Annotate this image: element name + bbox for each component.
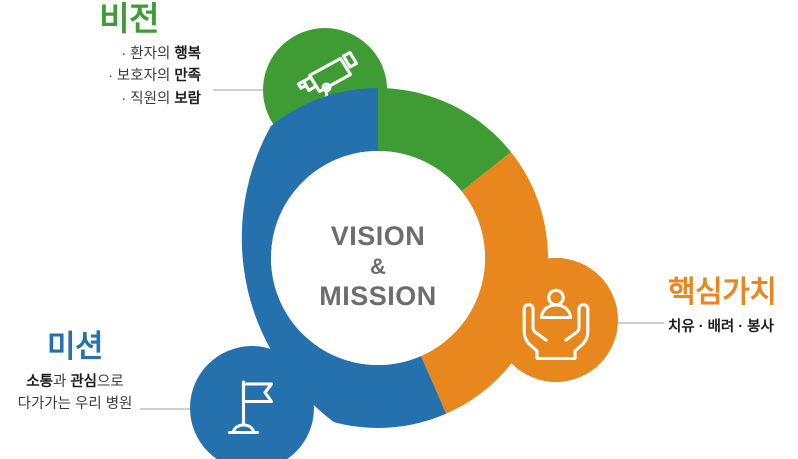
vision-bullets: · 환자의 행복 · 보호자의 만족 · 직원의 보람 bbox=[0, 43, 215, 110]
vision-bullet-3-strong: 보람 bbox=[174, 91, 201, 107]
vision-mission-diagram: VISION & MISSION 비전 · 환자의 행복 · 보호자의 만족 ·… bbox=[0, 0, 798, 459]
center-text-line3: MISSION bbox=[319, 281, 437, 311]
vision-bullet-2: · 보호자의 만족 bbox=[0, 65, 201, 87]
vision-bullet-1-strong: 행복 bbox=[174, 46, 201, 62]
mission-heading: 미션 bbox=[0, 331, 150, 364]
mission-line-1-strong1: 소통 bbox=[26, 374, 53, 390]
mission-line-1-mid: 과 bbox=[53, 374, 70, 390]
core-values-bubble-full bbox=[494, 258, 618, 382]
mission-lines: 소통과 관심으로 다가가는 우리 병원 bbox=[0, 371, 150, 416]
vision-bullet-2-prefix: · 보호자의 bbox=[108, 68, 174, 84]
vision-heading: 비전 bbox=[0, 2, 215, 37]
mission-line-1-tail: 으로 bbox=[97, 374, 124, 390]
core-values-subtitle: 치유 · 배려 · 봉사 bbox=[668, 316, 798, 338]
vision-bullet-3: · 직원의 보람 bbox=[0, 88, 201, 110]
vision-bullet-1-prefix: · 환자의 bbox=[121, 46, 174, 62]
center-text-line2: & bbox=[370, 254, 386, 279]
vision-bullet-2-strong: 만족 bbox=[174, 68, 201, 84]
mission-line-2: 다가가는 우리 병원 bbox=[0, 393, 150, 415]
vision-bullet-1: · 환자의 행복 bbox=[0, 43, 201, 65]
vision-label-block[interactable]: 비전 · 환자의 행복 · 보호자의 만족 · 직원의 보람 bbox=[0, 2, 215, 110]
center-text-line1: VISION bbox=[331, 221, 426, 251]
mission-line-1: 소통과 관심으로 bbox=[0, 371, 150, 393]
core-values-heading: 핵심가치 bbox=[668, 277, 798, 309]
vision-bullet-3-prefix: · 직원의 bbox=[121, 91, 174, 107]
mission-label-block[interactable]: 미션 소통과 관심으로 다가가는 우리 병원 bbox=[0, 331, 150, 415]
core-values-label-block[interactable]: 핵심가치 치유 · 배려 · 봉사 bbox=[668, 277, 798, 338]
mission-line-1-strong2: 관심 bbox=[70, 374, 97, 390]
